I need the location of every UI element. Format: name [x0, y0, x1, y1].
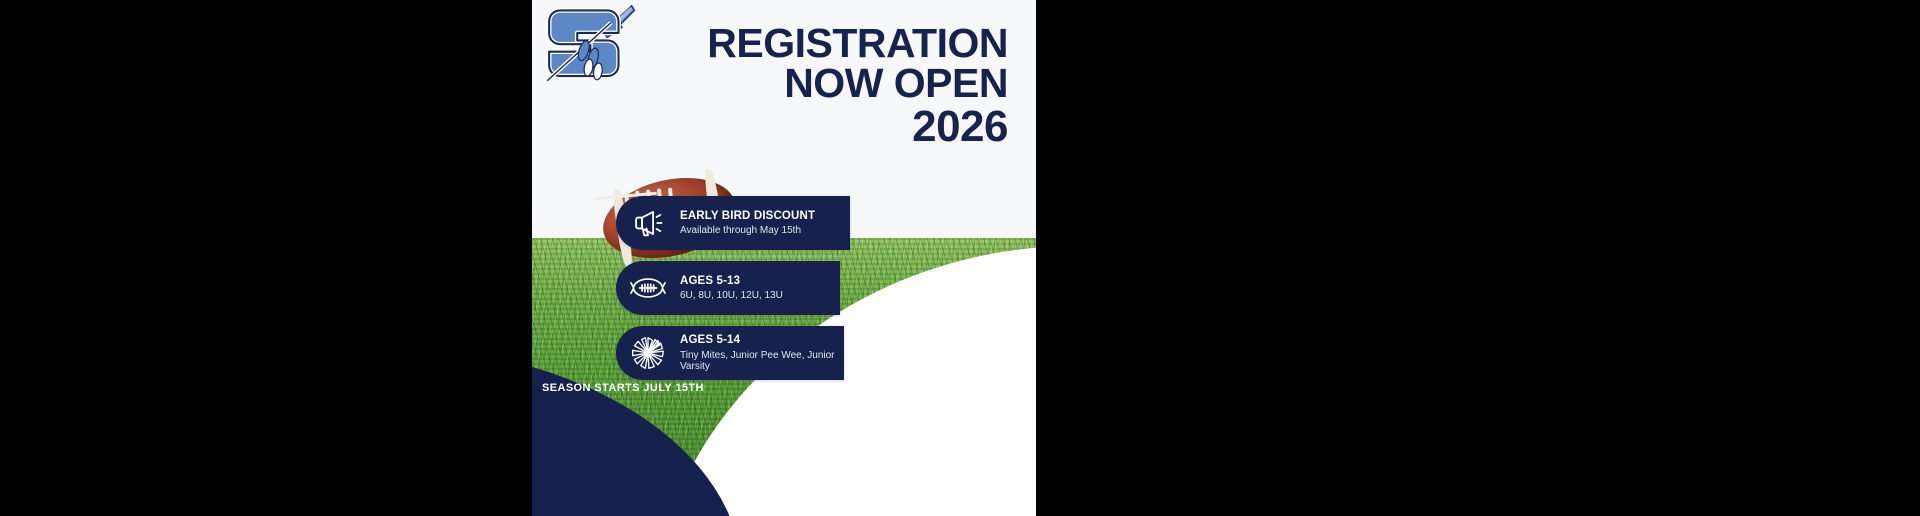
school-s-feather-logo — [541, 2, 636, 92]
badge-early-bird-text: EARLY BIRD DISCOUNT Available through Ma… — [674, 209, 815, 237]
headline-line-2: NOW OPEN — [707, 64, 1008, 104]
badge-early-bird[interactable]: EARLY BIRD DISCOUNT Available through Ma… — [616, 196, 850, 250]
badge-subtitle: Tiny Mites, Junior Pee Wee, Junior Varsi… — [680, 350, 844, 373]
badge-subtitle: Available through May 15th — [680, 225, 815, 237]
headline-line-1: REGISTRATION — [707, 24, 1008, 64]
football-icon — [622, 262, 674, 314]
pompom-icon — [622, 327, 674, 379]
badge-list: EARLY BIRD DISCOUNT Available through Ma… — [616, 196, 1036, 391]
badge-title: AGES 5-14 — [680, 333, 844, 347]
headline-block: REGISTRATION NOW OPEN 2026 — [707, 24, 1008, 148]
screenshot-stage: SEASON STARTS JULY 15TH — [0, 0, 1920, 516]
badge-subtitle: 6U, 8U, 10U, 12U, 13U — [680, 290, 783, 302]
badge-ages-5-14[interactable]: AGES 5-14 Tiny Mites, Junior Pee Wee, Ju… — [616, 326, 844, 380]
megaphone-icon — [622, 197, 674, 249]
badge-ages-5-13-text: AGES 5-13 6U, 8U, 10U, 12U, 13U — [674, 274, 783, 302]
badge-title: AGES 5-13 — [680, 274, 783, 288]
badge-title: EARLY BIRD DISCOUNT — [680, 209, 815, 223]
badge-ages-5-13[interactable]: AGES 5-13 6U, 8U, 10U, 12U, 13U — [616, 261, 840, 315]
registration-poster: SEASON STARTS JULY 15TH — [532, 0, 1036, 516]
headline-year: 2026 — [707, 106, 1008, 149]
badge-ages-5-14-text: AGES 5-14 Tiny Mites, Junior Pee Wee, Ju… — [674, 333, 844, 372]
